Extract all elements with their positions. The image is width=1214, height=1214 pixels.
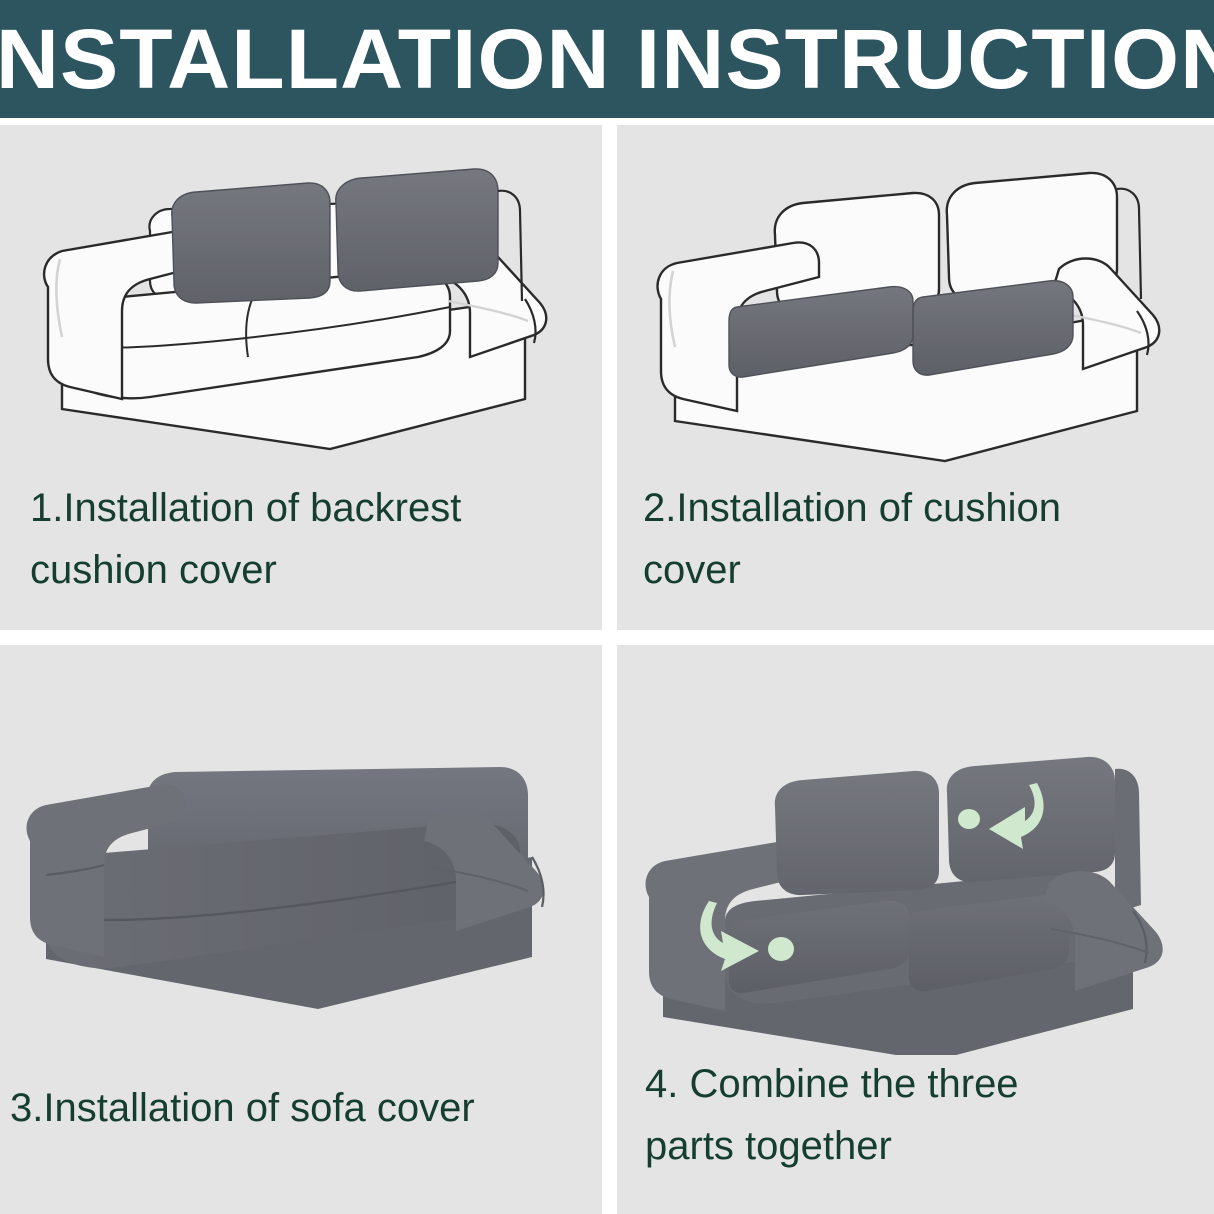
sofa-gray-complete [646, 757, 1163, 1055]
page-title: INSTALLATION INSTRUCTION [0, 15, 1214, 103]
caption-line: cover [643, 539, 1203, 601]
instruction-grid: 1.Installation of backrest cushion cover [0, 125, 1214, 1214]
panel-step-2: 2.Installation of cushion cover [617, 125, 1214, 630]
caption-step-1: 1.Installation of backrest cushion cover [30, 477, 590, 601]
caption-line: parts together [645, 1115, 1205, 1177]
header-underline [0, 118, 1214, 125]
sofa-gray-cover [27, 767, 544, 1009]
illustration-step-3 [0, 745, 602, 1045]
caption-line: 2.Installation of cushion [643, 477, 1203, 539]
caption-line: cushion cover [30, 539, 590, 601]
horizontal-divider [0, 630, 1214, 645]
backrest-cushion-left [172, 183, 330, 303]
caption-step-4: 4. Combine the three parts together [645, 1053, 1205, 1177]
illustration-step-1 [0, 131, 602, 461]
caption-line: 3.Installation of sofa cover [10, 1077, 602, 1139]
panel-step-1: 1.Installation of backrest cushion cover [0, 125, 602, 630]
caption-step-3: 3.Installation of sofa cover [10, 1077, 602, 1139]
header-banner: INSTALLATION INSTRUCTION [0, 0, 1214, 118]
instruction-sheet: INSTALLATION INSTRUCTION [0, 0, 1214, 1214]
panel-step-3: 3.Installation of sofa cover [0, 645, 602, 1214]
panel-step-4: 4. Combine the three parts together [617, 645, 1214, 1214]
caption-line: 1.Installation of backrest [30, 477, 590, 539]
caption-line: 4. Combine the three [645, 1053, 1205, 1115]
backrest-cushion-right [336, 169, 498, 291]
illustration-step-2 [617, 139, 1214, 469]
vertical-divider [602, 125, 617, 1214]
illustration-step-4 [617, 745, 1214, 1055]
caption-step-2: 2.Installation of cushion cover [643, 477, 1203, 601]
